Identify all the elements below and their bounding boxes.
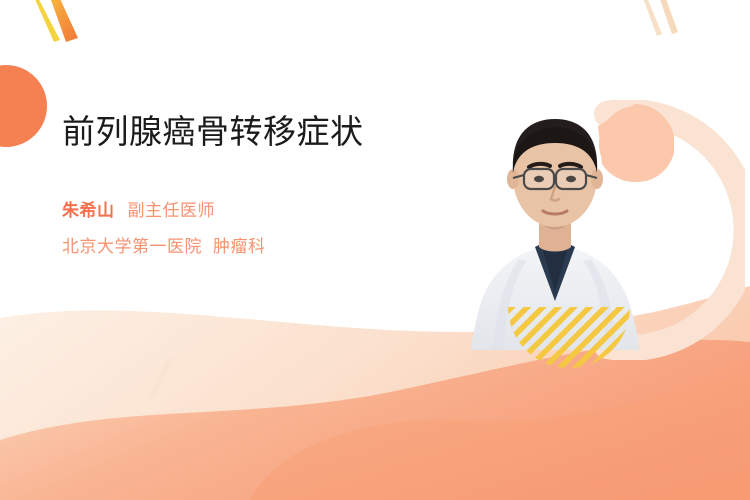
doctor-name: 朱希山 bbox=[62, 196, 115, 221]
orange-circle-decoration bbox=[0, 65, 47, 147]
top-left-stroke-decoration bbox=[24, 0, 114, 74]
page-title: 前列腺癌骨转移症状 bbox=[62, 112, 392, 152]
top-right-stroke-decoration bbox=[636, 0, 706, 56]
wave-coral-deep bbox=[250, 372, 750, 500]
doctor-title: 副主任医师 bbox=[128, 196, 216, 221]
bottom-left-stroke-decoration bbox=[142, 356, 184, 402]
byline-row-affiliation: 北京大学第一医院 肿瘤科 bbox=[62, 232, 412, 257]
byline: 朱希山 副主任医师 北京大学第一医院 肿瘤科 bbox=[62, 196, 412, 257]
promo-card: 前列腺癌骨转移症状 朱希山 副主任医师 北京大学第一医院 肿瘤科 bbox=[0, 0, 750, 500]
doctor-department: 肿瘤科 bbox=[213, 232, 266, 257]
doctor-hospital: 北京大学第一医院 bbox=[62, 232, 202, 257]
text-block: 前列腺癌骨转移症状 朱希山 副主任医师 北京大学第一医院 肿瘤科 bbox=[62, 112, 412, 268]
wave-coral bbox=[0, 340, 750, 500]
byline-row-name: 朱希山 副主任医师 bbox=[62, 196, 412, 221]
striped-halfcircle-decoration bbox=[508, 307, 630, 371]
